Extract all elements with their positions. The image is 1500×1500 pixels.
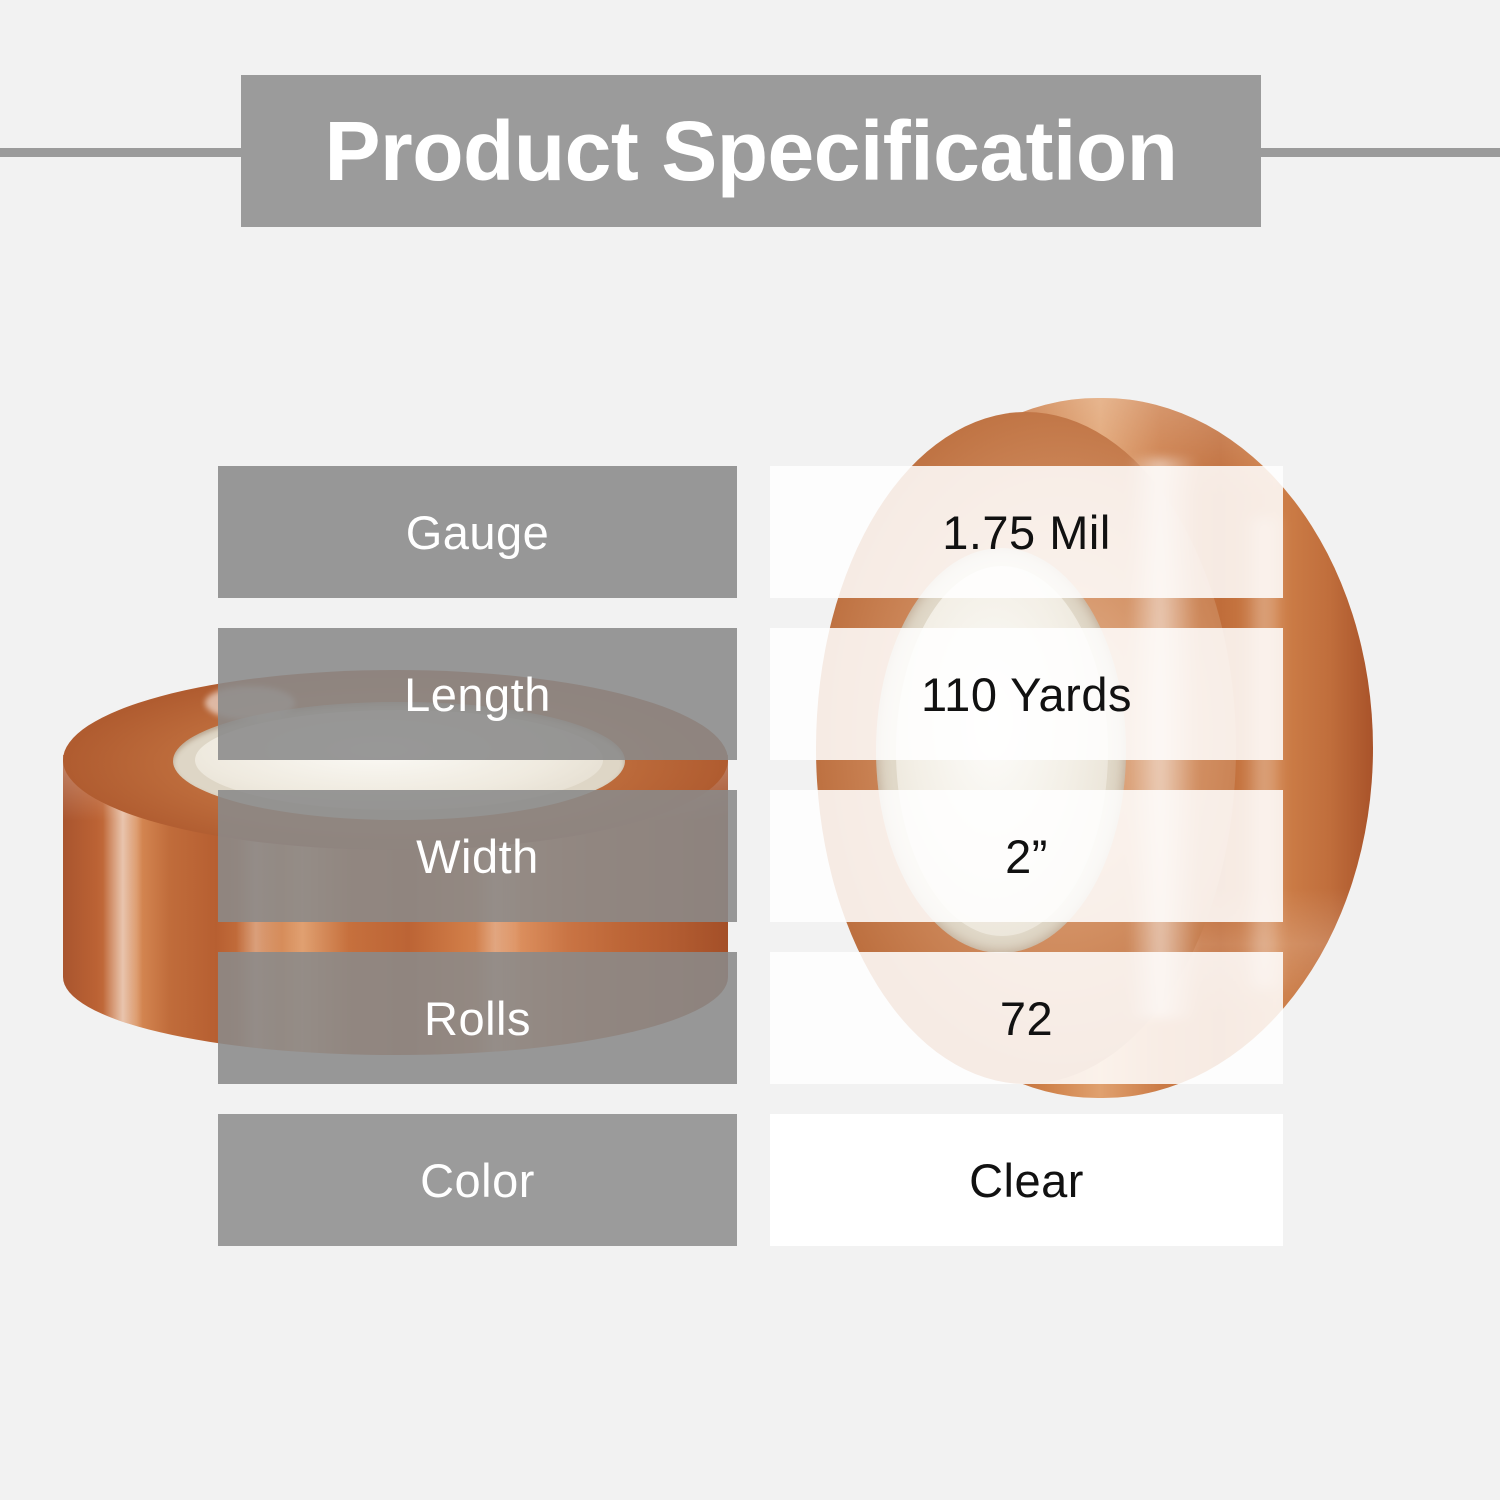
spec-value-cell-rolls: 72	[770, 952, 1283, 1084]
spec-label-rolls: Rolls	[424, 995, 531, 1042]
spec-table: Gauge 1.75 Mil Length 110 Yards Width 2”…	[0, 0, 1500, 1500]
spec-value-cell-color: Clear	[770, 1114, 1283, 1246]
spec-value-cell-width: 2”	[770, 790, 1283, 922]
spec-value-gauge: 1.75 Mil	[942, 509, 1111, 556]
spec-label-cell-gauge: Gauge	[218, 466, 737, 598]
spec-label-cell-length: Length	[218, 628, 737, 760]
spec-value-rolls: 72	[1000, 995, 1053, 1042]
spec-row-gauge: Gauge 1.75 Mil	[0, 466, 1500, 598]
spec-value-width: 2”	[1005, 833, 1048, 880]
spec-label-cell-rolls: Rolls	[218, 952, 737, 1084]
spec-label-cell-width: Width	[218, 790, 737, 922]
spec-label-color: Color	[420, 1157, 535, 1204]
spec-label-width: Width	[416, 833, 539, 880]
spec-value-color: Clear	[969, 1157, 1084, 1204]
spec-row-rolls: Rolls 72	[0, 952, 1500, 1084]
spec-row-length: Length 110 Yards	[0, 628, 1500, 760]
spec-value-cell-gauge: 1.75 Mil	[770, 466, 1283, 598]
spec-value-length: 110 Yards	[921, 671, 1132, 718]
spec-label-gauge: Gauge	[406, 509, 550, 556]
spec-label-cell-color: Color	[218, 1114, 737, 1246]
spec-row-width: Width 2”	[0, 790, 1500, 922]
spec-label-length: Length	[404, 671, 551, 718]
spec-value-cell-length: 110 Yards	[770, 628, 1283, 760]
spec-row-color: Color Clear	[0, 1114, 1500, 1246]
